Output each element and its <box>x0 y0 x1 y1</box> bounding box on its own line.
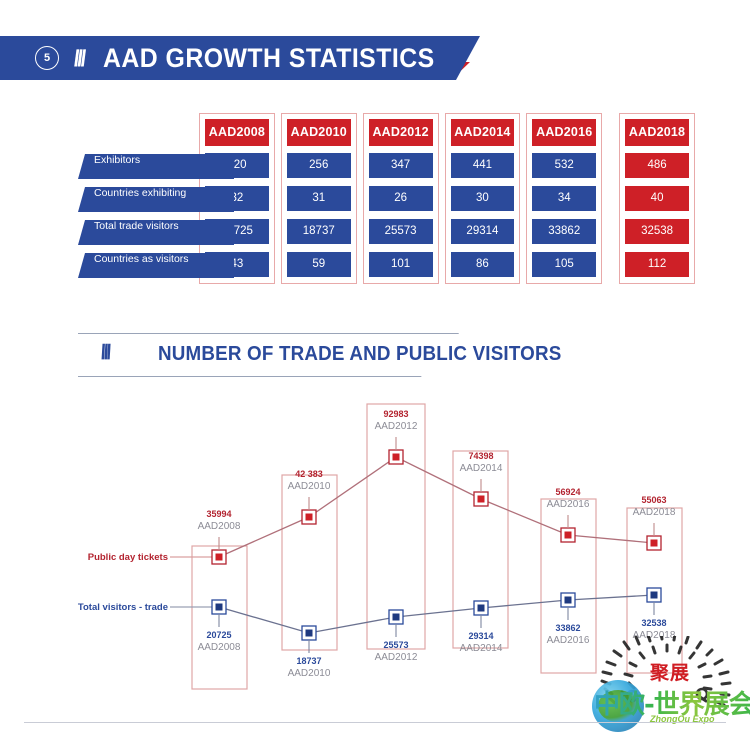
value-text: 42 383 <box>288 468 331 480</box>
data-label-trade-2016: 33862 AAD2016 <box>547 622 590 647</box>
marker-public-2016 <box>561 528 575 542</box>
data-label-public-2014: 74398 AAD2014 <box>460 450 503 475</box>
cell-value: 86 <box>451 252 515 277</box>
cell-value: 256 <box>287 153 351 178</box>
row-label: Countries exhibiting <box>78 187 234 212</box>
cell-value: 486 <box>625 153 689 178</box>
column-header: AAD2012 <box>369 119 433 146</box>
data-label-trade-2012: 25573 AAD2012 <box>375 639 418 664</box>
data-label-public-2012: 92983 AAD2012 <box>375 408 418 433</box>
year-text: AAD2018 <box>633 506 676 519</box>
year-text: AAD2014 <box>460 462 503 475</box>
bottom-divider <box>24 722 726 723</box>
cell-value: 59 <box>287 252 351 277</box>
cell-value: 40 <box>625 186 689 211</box>
row-label-wrap-1: Countries exhibiting <box>78 187 234 212</box>
marker-public-2018 <box>647 536 661 550</box>
slashes-decoration-icon: \\\ <box>70 45 87 72</box>
value-text: 55063 <box>633 494 676 506</box>
marker-trade-2010 <box>302 626 316 640</box>
cell-value: 105 <box>532 252 596 277</box>
column-header: AAD2018 <box>625 119 689 146</box>
column-header: AAD2010 <box>287 119 351 146</box>
year-text: AAD2016 <box>547 634 590 647</box>
watermark-mark: 聚展 <box>650 658 690 685</box>
value-text: 74398 <box>460 450 503 462</box>
cell-value: 32538 <box>625 219 689 244</box>
table-column-5-highlight: AAD2018 486 40 32538 112 <box>605 113 698 284</box>
marker-trade-2012 <box>389 610 403 624</box>
value-text: 20725 <box>198 629 241 641</box>
marker-trade-2018 <box>647 588 661 602</box>
banner-blue-bar: 5 \\\ AAD GROWTH STATISTICS <box>0 36 480 80</box>
data-label-public-2010: 42 383 AAD2010 <box>288 468 331 493</box>
value-text: 25573 <box>375 639 418 651</box>
value-text: 56924 <box>547 486 590 498</box>
cell-value: 29314 <box>451 219 515 244</box>
data-label-public-2018: 55063 AAD2018 <box>633 494 676 519</box>
value-text: 33862 <box>547 622 590 634</box>
year-text: AAD2008 <box>198 520 241 533</box>
section-2-header: \\\ NUMBER OF TRADE AND PUBLIC VISITORS <box>78 333 458 375</box>
data-label-trade-2008: 20725 AAD2008 <box>198 629 241 654</box>
growth-statistics-table: AAD2008 220 32 20725 43 AAD2010 256 31 1… <box>78 113 698 303</box>
marker-public-2014 <box>474 492 488 506</box>
table-column-1: AAD2010 256 31 18737 59 <box>278 113 360 284</box>
year-text: AAD2012 <box>375 420 418 433</box>
value-text: 92983 <box>375 408 418 420</box>
data-label-public-2008: 35994 AAD2008 <box>198 508 241 533</box>
cell-value: 347 <box>369 153 433 178</box>
marker-trade-2008 <box>212 600 226 614</box>
row-label-wrap-0: Exhibitors <box>78 154 234 179</box>
cell-value: 30 <box>451 186 515 211</box>
year-text: AAD2012 <box>375 651 418 664</box>
year-text: AAD2008 <box>198 641 241 654</box>
section-number-badge: 5 <box>35 46 59 70</box>
year-text: AAD2010 <box>288 480 331 493</box>
table-column-4: AAD2016 532 34 33862 105 <box>523 113 605 284</box>
marker-trade-2014 <box>474 601 488 615</box>
data-label-public-2016: 56924 AAD2016 <box>547 486 590 511</box>
value-text: 18737 <box>288 655 331 667</box>
value-text: 29314 <box>460 630 503 642</box>
cell-value: 34 <box>532 186 596 211</box>
column-header: AAD2008 <box>205 119 269 146</box>
row-label: Exhibitors <box>78 154 234 179</box>
marker-public-2012 <box>389 450 403 464</box>
section-title: NUMBER OF TRADE AND PUBLIC VISITORS <box>158 343 561 366</box>
value-text: 35994 <box>198 508 241 520</box>
value-text: 32538 <box>633 617 676 629</box>
cell-value: 31 <box>287 186 351 211</box>
legend-label-public: Public day tickets <box>88 552 168 563</box>
table-column-2: AAD2012 347 26 25573 101 <box>360 113 442 284</box>
page-title: AAD GROWTH STATISTICS <box>103 43 435 74</box>
row-label: Total trade visitors <box>78 220 234 245</box>
cell-value: 26 <box>369 186 433 211</box>
marker-public-2008 <box>212 550 226 564</box>
data-label-trade-2010: 18737 AAD2010 <box>288 655 331 680</box>
section-1-header: 5 \\\ AAD GROWTH STATISTICS <box>0 18 500 80</box>
cell-value: 33862 <box>532 219 596 244</box>
marker-public-2010 <box>302 510 316 524</box>
row-label-wrap-3: Countries as visitors <box>78 253 234 278</box>
cell-value: 25573 <box>369 219 433 244</box>
year-text: AAD2016 <box>547 498 590 511</box>
year-text: AAD2010 <box>288 667 331 680</box>
table-column-3: AAD2014 441 30 29314 86 <box>442 113 524 284</box>
watermark-logo: 聚展 中欧-世界展会 ZhongOu Expo <box>588 636 750 746</box>
row-label-wrap-2: Total trade visitors <box>78 220 234 245</box>
cell-value: 441 <box>451 153 515 178</box>
cell-value: 18737 <box>287 219 351 244</box>
legend-label-trade: Total visitors - trade <box>78 602 168 613</box>
row-label: Countries as visitors <box>78 253 234 278</box>
year-text: AAD2014 <box>460 642 503 655</box>
column-header: AAD2014 <box>451 119 515 146</box>
cell-value: 112 <box>625 252 689 277</box>
data-label-trade-2014: 29314 AAD2014 <box>460 630 503 655</box>
cell-value: 532 <box>532 153 596 178</box>
column-header: AAD2016 <box>532 119 596 146</box>
cell-value: 101 <box>369 252 433 277</box>
marker-trade-2016 <box>561 593 575 607</box>
